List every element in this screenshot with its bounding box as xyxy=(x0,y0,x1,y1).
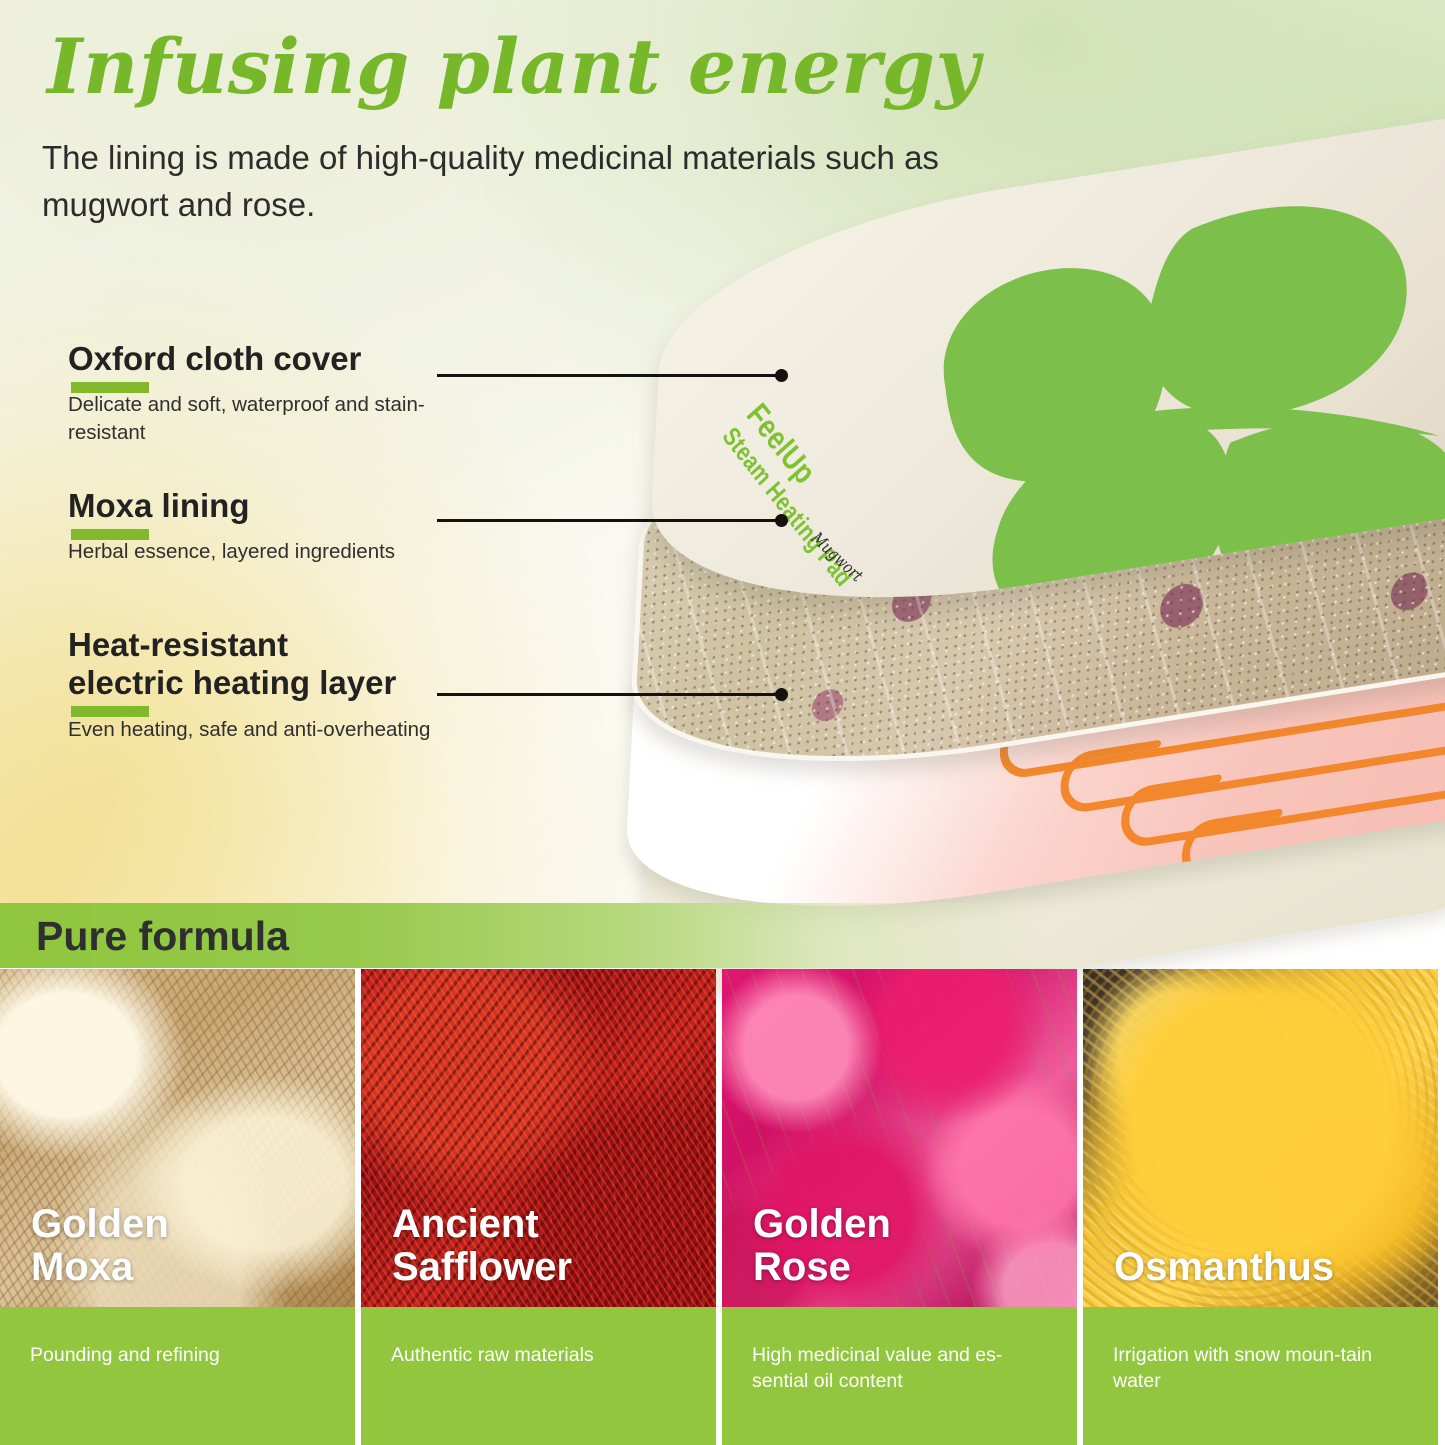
ingredient-photo-golden-rose: Golden Rose xyxy=(722,969,1077,1307)
ingredient-card[interactable]: Osmanthus Irrigation with snow moun-tain… xyxy=(1083,969,1438,1445)
ingredient-photo-golden-moxa: Golden Moxa xyxy=(0,969,355,1307)
feature-description: Even heating, safe and anti-overheating xyxy=(68,716,498,743)
ingredient-title: Ancient Safflower xyxy=(392,1203,572,1289)
ingredient-title: Osmanthus xyxy=(1114,1246,1334,1289)
ingredient-caption: High medicinal value and es-sential oil … xyxy=(722,1307,1077,1445)
feature-description: Herbal essence, layered ingredients xyxy=(68,538,488,565)
ingredient-card-grid: Golden Moxa Pounding and refining Ancien… xyxy=(0,969,1445,1445)
ingredient-caption: Irrigation with snow moun-tain water xyxy=(1083,1307,1438,1445)
heading-underline xyxy=(71,706,149,717)
product-brandmark: FeelUp Steam Heating Pad Mugwort xyxy=(718,399,884,592)
leader-line-moxa xyxy=(437,519,782,522)
leader-dot xyxy=(775,688,788,701)
feature-oxford-cloth-cover: Oxford cloth cover Delicate and soft, wa… xyxy=(68,340,488,446)
heading-underline xyxy=(71,382,149,393)
page-title: Infusing plant energy xyxy=(47,26,980,108)
leader-dot xyxy=(775,514,788,527)
feature-description: Delicate and soft, waterproof and stain-… xyxy=(68,391,488,446)
ingredient-title: Golden Rose xyxy=(753,1203,891,1289)
leader-dot xyxy=(775,369,788,382)
pure-formula-label: Pure formula xyxy=(36,905,289,967)
ingredient-caption: Authentic raw materials xyxy=(361,1307,716,1445)
leader-line-heating xyxy=(437,693,782,696)
feature-heading: Moxa lining xyxy=(68,487,250,525)
heading-underline xyxy=(71,529,149,540)
feature-heading: Oxford cloth cover xyxy=(68,340,361,378)
ingredient-photo-ancient-safflower: Ancient Safflower xyxy=(361,969,716,1307)
infographic-page: Infusing plant energy The lining is made… xyxy=(0,0,1445,1445)
ingredient-caption: Pounding and refining xyxy=(0,1307,355,1445)
ingredient-card[interactable]: Ancient Safflower Authentic raw material… xyxy=(361,969,716,1445)
ingredient-card[interactable]: Golden Moxa Pounding and refining xyxy=(0,969,355,1445)
ingredient-card[interactable]: Golden Rose High medicinal value and es-… xyxy=(722,969,1077,1445)
feature-heading: Heat-resistant electric heating layer xyxy=(68,626,396,703)
ingredient-title: Golden Moxa xyxy=(31,1203,169,1289)
ingredient-photo-osmanthus: Osmanthus xyxy=(1083,969,1438,1307)
feature-heating-layer: Heat-resistant electric heating layer Ev… xyxy=(68,626,498,743)
leader-line-oxford xyxy=(437,374,782,377)
feature-moxa-lining: Moxa lining Herbal essence, layered ingr… xyxy=(68,487,488,566)
